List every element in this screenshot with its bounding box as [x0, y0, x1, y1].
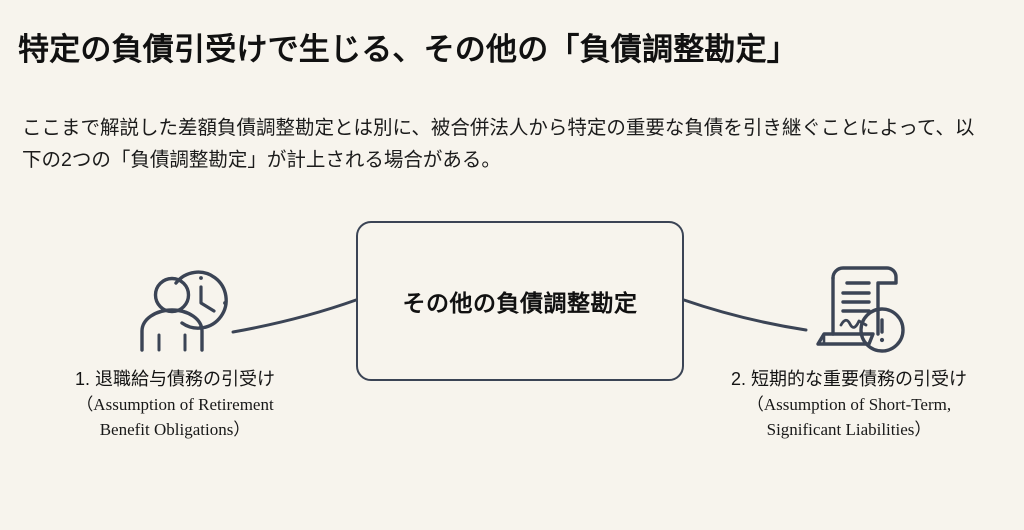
scroll-base [818, 334, 873, 344]
right-caption-en-line2: Significant Liabilities） [684, 419, 1014, 442]
connector-right [684, 300, 806, 330]
alert-circle [861, 309, 903, 351]
page-title: 特定の負債引受けで生じる、その他の「負債調整勘定」 [18, 24, 798, 69]
scroll-document-alert-icon [818, 268, 903, 351]
left-node-caption: 1. 退職給与債務の引受け （Assumption of Retirement … [10, 366, 340, 442]
right-caption-jp: 2. 短期的な重要債務の引受け [684, 366, 1014, 392]
center-box-label: その他の負債調整勘定 [356, 221, 684, 381]
person-with-clock-icon [142, 272, 227, 350]
scroll-signature [841, 320, 866, 327]
right-caption-en-line1: （Assumption of Short-Term, [684, 394, 1014, 417]
left-caption-en-line2: Benefit Obligations） [10, 419, 340, 442]
left-caption-en-line1: （Assumption of Retirement [10, 394, 340, 417]
clock-tick-12 [199, 276, 203, 280]
alert-exclamation-dot [880, 338, 884, 342]
clock-tick-6 [199, 325, 203, 329]
connector-left [233, 300, 356, 332]
slide-canvas: 特定の負債引受けで生じる、その他の「負債調整勘定」 ここまで解説した差額負債調整… [0, 0, 1024, 530]
body-paragraph: ここまで解説した差額負債調整勘定とは別に、被合併法人から特定の重要な負債を引き継… [22, 113, 982, 176]
scroll-top-curl [833, 268, 896, 334]
person-body [142, 310, 202, 350]
clock-hands [201, 287, 214, 311]
person-head [156, 279, 189, 312]
clock-tick-3 [223, 301, 227, 305]
right-node-caption: 2. 短期的な重要債務の引受け （Assumption of Short-Ter… [684, 366, 1014, 442]
left-caption-jp: 1. 退職給与債務の引受け [10, 366, 340, 392]
clock-ring [176, 272, 226, 328]
